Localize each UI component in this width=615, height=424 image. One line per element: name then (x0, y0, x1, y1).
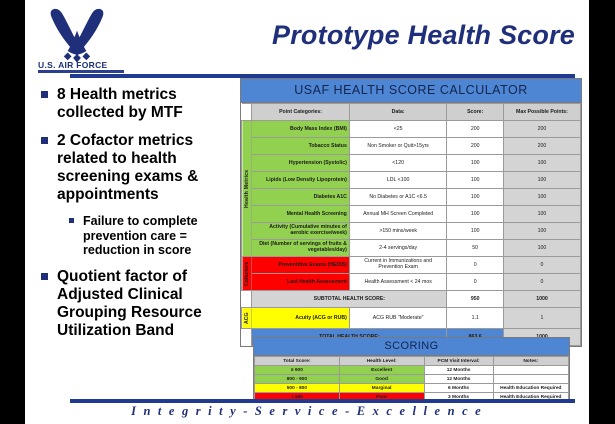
us-air-force-wings-logo (38, 6, 116, 68)
scoring-note: Health Education Required (493, 384, 568, 393)
table-row: Cofactors Preventitive Exams (HEDIS) Cur… (242, 257, 581, 274)
bullet-item: 8 Health metrics collected by MTF (39, 86, 244, 122)
scoring-column-interval: PCM Visit Interval: (424, 357, 493, 366)
bullet-list: 8 Health metrics collected by MTF 2 Cofa… (39, 86, 244, 350)
row-score: 1.1 (447, 308, 504, 329)
table-row: Last Health Assessment Health Assessment… (242, 274, 581, 291)
scoring-column-total: Total Score: (255, 357, 340, 366)
slide-header: U.S. AIR FORCE Prototype Health Score (25, 0, 589, 72)
scoring-row: 500 - 800 Marginal 6 Months Health Educa… (255, 384, 569, 393)
row-max: 1 (503, 308, 580, 329)
row-data: <120 (349, 155, 447, 172)
group-label-spacer (242, 329, 252, 346)
bullet-subitem: Failure to complete prevention care = re… (67, 214, 244, 258)
group-label-spacer (242, 291, 252, 308)
row-max: 100 (503, 189, 580, 206)
scoring-legend: SCORING Total Score: Health Level: PCM V… (253, 337, 570, 403)
row-data: >150 mins/week (349, 223, 447, 240)
row-score: 50 (447, 240, 504, 257)
row-max: 200 (503, 138, 580, 155)
row-score: 100 (447, 206, 504, 223)
table-row: Lipids (Low Density Lipoprotein) LDL <10… (242, 172, 581, 189)
af-wordmark: U.S. AIR FORCE (38, 60, 108, 70)
scoring-column-notes: Notes: (493, 357, 568, 366)
row-max: 100 (503, 172, 580, 189)
table-row: Hypertension (Systolic) <120 100 100 (242, 155, 581, 172)
footer-motto: I n t e g r i t y - S e r v i c e - E x … (25, 404, 589, 419)
table-row: Health Metrics Body Mass Index (BMI) <25… (242, 121, 581, 138)
row-score: 200 (447, 138, 504, 155)
row-category: Body Mass Index (BMI) (252, 121, 350, 138)
scoring-table: Total Score: Health Level: PCM Visit Int… (254, 356, 569, 402)
row-category: Acuity (ACG or RUB) (252, 308, 350, 329)
scoring-row: ≥ 900 Excellent 12 Months (255, 366, 569, 375)
row-data: Annual MH Screen Completed (349, 206, 447, 223)
row-category: Mental Health Screening (252, 206, 350, 223)
row-category: Lipids (Low Density Lipoprotein) (252, 172, 350, 189)
row-max: 100 (503, 240, 580, 257)
bullet-item: Quotient factor of Adjusted Clinical Gro… (39, 268, 244, 340)
group-label-acg: ACG (242, 308, 252, 329)
scoring-level: Excellent (339, 366, 424, 375)
row-score: 100 (447, 223, 504, 240)
row-data: LDL <100 (349, 172, 447, 189)
row-data: Health Assessment < 24 mos (349, 274, 447, 291)
table-row: Diabetes A1C No Diabetes or A1C <6.5 100… (242, 189, 581, 206)
table-row: Diet (Number of servings of fruits & veg… (242, 240, 581, 257)
row-score: 0 (447, 257, 504, 274)
row-score: 0 (447, 274, 504, 291)
row-score: 100 (447, 189, 504, 206)
scoring-interval: 6 Months (424, 384, 493, 393)
column-header-max: Max Possible Points: (503, 104, 580, 121)
scoring-range: ≥ 900 (255, 366, 340, 375)
scoring-range: 500 - 800 (255, 384, 340, 393)
group-label-health-metrics: Health Metrics (242, 121, 252, 257)
row-category: Preventitive Exams (HEDIS) (252, 257, 350, 274)
column-header-score: Score: (447, 104, 504, 121)
scoring-level: Good (339, 375, 424, 384)
calculator-table: Point Categories: Data: Score: Max Possi… (241, 103, 581, 346)
row-category: Hypertension (Systolic) (252, 155, 350, 172)
table-header-row: Point Categories: Data: Score: Max Possi… (242, 104, 581, 121)
footer-divider (70, 399, 575, 403)
slide-canvas: U.S. AIR FORCE Prototype Health Score 8 … (25, 0, 589, 424)
scoring-row: 800 - 900 Good 12 Months (255, 375, 569, 384)
subtotal-row: SUBTOTAL HEALTH SCORE: 950 1000 (242, 291, 581, 308)
subtotal-max: 1000 (503, 291, 580, 308)
row-max: 0 (503, 257, 580, 274)
row-score: 100 (447, 172, 504, 189)
bullet-item: 2 Cofactor metrics related to health scr… (39, 132, 244, 204)
scoring-interval: 12 Months (424, 375, 493, 384)
row-data: 2-4 servings/day (349, 240, 447, 257)
row-max: 100 (503, 155, 580, 172)
scoring-column-level: Health Level: (339, 357, 424, 366)
row-max: 200 (503, 121, 580, 138)
row-category: Last Health Assessment (252, 274, 350, 291)
scoring-note (493, 366, 568, 375)
row-data: Current in Immunizations and Prevention … (349, 257, 447, 274)
subtotal-score: 950 (447, 291, 504, 308)
af-wordmark-underline (38, 70, 124, 73)
health-score-calculator: USAF HEALTH SCORE CALCULATOR Point Categ… (240, 78, 582, 347)
row-max: 100 (503, 223, 580, 240)
scoring-note (493, 375, 568, 384)
acg-row: ACG Acuity (ACG or RUB) ACG RUB "Moderat… (242, 308, 581, 329)
scoring-level: Marginal (339, 384, 424, 393)
row-category: Diet (Number of servings of fruits & veg… (252, 240, 350, 257)
row-data: No Diabetes or A1C <6.5 (349, 189, 447, 206)
table-row: Activity (Cumulative minutes of aerobic … (242, 223, 581, 240)
scoring-interval: 12 Months (424, 366, 493, 375)
row-max: 100 (503, 206, 580, 223)
row-score: 100 (447, 155, 504, 172)
row-category: Activity (Cumulative minutes of aerobic … (252, 223, 350, 240)
scoring-title: SCORING (254, 338, 569, 356)
scoring-header-row: Total Score: Health Level: PCM Visit Int… (255, 357, 569, 366)
row-data: ACG RUB "Moderate" (349, 308, 447, 329)
row-score: 200 (447, 121, 504, 138)
row-max: 0 (503, 274, 580, 291)
row-category: Diabetes A1C (252, 189, 350, 206)
page-title: Prototype Health Score (272, 20, 575, 51)
column-header-categories: Point Categories: (252, 104, 350, 121)
table-row: Mental Health Screening Annual MH Screen… (242, 206, 581, 223)
group-label-cofactors: Cofactors (242, 257, 252, 291)
calculator-title: USAF HEALTH SCORE CALCULATOR (241, 79, 581, 103)
group-label-spacer (242, 104, 252, 121)
row-data: Non Smoker or Quit>15yrs (349, 138, 447, 155)
column-header-data: Data: (349, 104, 447, 121)
row-data: <25 (349, 121, 447, 138)
scoring-range: 800 - 900 (255, 375, 340, 384)
row-category: Tobacco Status (252, 138, 350, 155)
subtotal-label: SUBTOTAL HEALTH SCORE: (252, 291, 447, 308)
table-row: Tobacco Status Non Smoker or Quit>15yrs … (242, 138, 581, 155)
